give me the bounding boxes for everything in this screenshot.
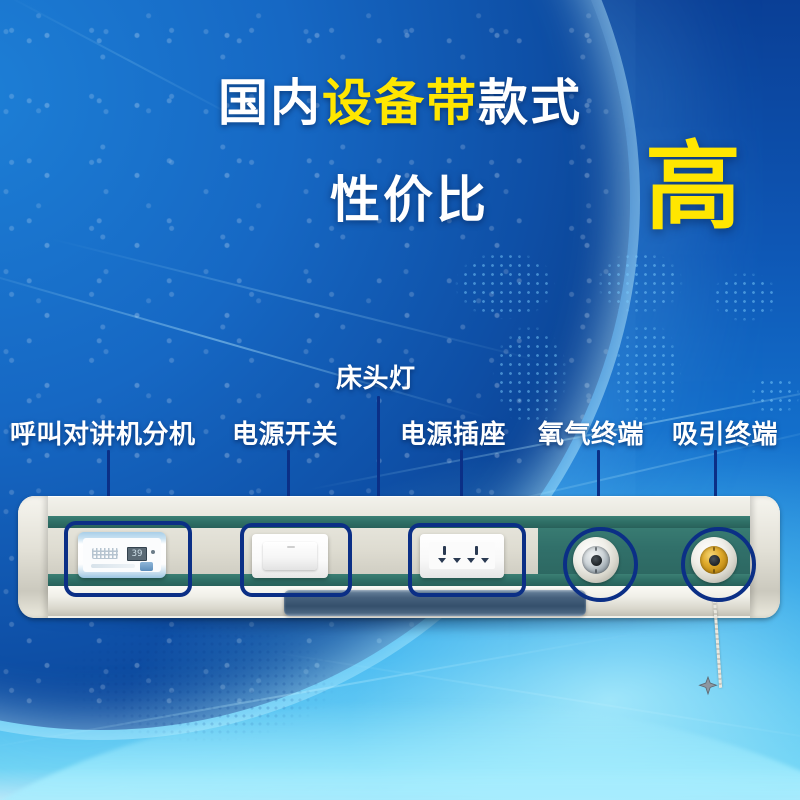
highlight-box-intercom [64, 521, 192, 597]
highlight-box-power-socket [408, 523, 526, 597]
callout-label-oxygen-terminal: 氧气终端 [538, 414, 644, 451]
headline-highlight: 设备带 [322, 75, 478, 131]
promo-banner: 国内设备带款式 性价比 高 呼叫对讲机分机 电源开关 床头灯 电源插座 氧气终端… [0, 0, 800, 800]
pull-cord-handle-icon[interactable] [697, 676, 719, 698]
subheadline: 性价比 [330, 160, 489, 232]
headline-part1: 国内 [218, 75, 322, 131]
cord-cross-glyph [697, 676, 719, 698]
callout-label-power-switch: 电源开关 [232, 414, 338, 451]
headline: 国内设备带款式 [0, 78, 800, 128]
highlight-circle-suction-terminal [681, 527, 756, 602]
callout-label-suction-terminal: 吸引终端 [672, 414, 778, 451]
headline-big-word: 高 [645, 140, 741, 236]
highlight-box-power-switch [240, 523, 352, 597]
callout-label-intercom: 呼叫对讲机分机 [10, 414, 196, 451]
headline-part2: 款式 [478, 75, 582, 131]
callout-label-power-socket: 电源插座 [400, 414, 506, 451]
callout-label-bed-lamp: 床头灯 [336, 358, 416, 395]
panel-endcap-left [18, 496, 48, 618]
highlight-circle-oxygen-terminal [563, 527, 638, 602]
